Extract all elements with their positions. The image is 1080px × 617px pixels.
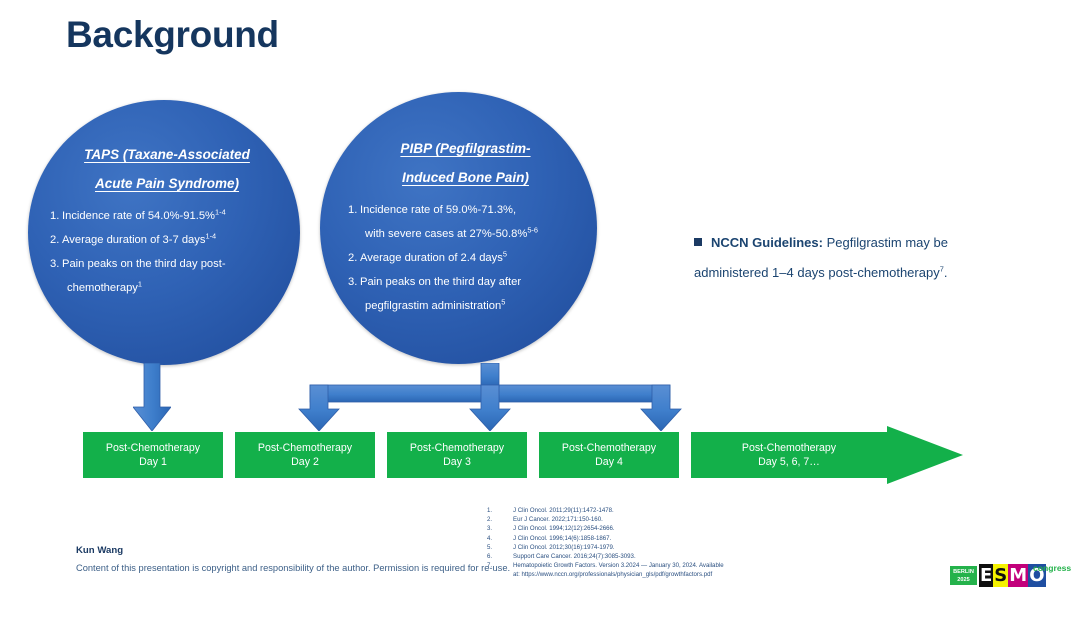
list-item-number: 2. xyxy=(348,246,357,270)
list-item-text: Average duration of 2.4 days xyxy=(360,252,503,264)
circle-taps-content: TAPS (Taxane-Associated Acute Pain Syndr… xyxy=(28,140,300,300)
circle-pibp-heading-line2: Induced Bone Pain) xyxy=(348,163,583,192)
citation-superscript: 5 xyxy=(503,249,507,258)
list-item-number: 3. xyxy=(50,252,59,276)
reference-item: 6. Support Care Cancer. 2016;24(7):3085-… xyxy=(487,552,724,561)
timeline-arrow-day-5-plus: Post-Chemotherapy Day 5, 6, 7… xyxy=(691,426,963,484)
reference-text: Hematopoietic Growth Factors. Version 3.… xyxy=(513,561,724,579)
timeline-box-line2: Day 4 xyxy=(595,455,623,469)
list-item: 2. Average duration of 3-7 days1-4 xyxy=(50,228,284,252)
list-item: 1. Incidence rate of 54.0%-91.5%1-4 xyxy=(50,204,284,228)
esmo-letter-m: M xyxy=(1008,564,1028,587)
reference-item: 5. J Clin Oncol. 2012;30(16):1974-1979. xyxy=(487,543,724,552)
circle-pibp-content: PIBP (Pegfilgrastim- Induced Bone Pain) … xyxy=(320,134,597,318)
list-item-number: 2. xyxy=(50,228,59,252)
esmo-letter-s: S xyxy=(993,564,1008,587)
reference-text-line1: Hematopoietic Growth Factors. Version 3.… xyxy=(513,562,724,569)
list-item-text: Pain peaks on the third day after xyxy=(360,276,521,288)
reference-text: J Clin Oncol. 1994;12(12):2654-2666. xyxy=(513,524,615,533)
timeline-box-line2: Day 2 xyxy=(291,455,319,469)
esmo-congress-label: congress xyxy=(1033,563,1071,573)
timeline-box-day-3: Post-Chemotherapy Day 3 xyxy=(387,432,527,478)
nccn-text-line1: Pegfilgrastim may be xyxy=(823,235,948,250)
reference-number: 5. xyxy=(487,543,513,552)
concept-circle-pibp: PIBP (Pegfilgrastim- Induced Bone Pain) … xyxy=(320,92,597,364)
reference-number: 6. xyxy=(487,552,513,561)
timeline-box-line2: Day 5, 6, 7… xyxy=(758,455,820,469)
timeline-box-day-2: Post-Chemotherapy Day 2 xyxy=(235,432,375,478)
list-item-text: Pain peaks on the third day post- xyxy=(62,258,226,270)
reference-number: 4. xyxy=(487,534,513,543)
circle-pibp-heading-line1: PIBP (Pegfilgrastim- xyxy=(348,134,583,163)
list-item-text-continued: pegfilgrastim administration5 xyxy=(360,294,583,318)
esmo-letter-e: E xyxy=(979,564,993,587)
citation-superscript: 5-6 xyxy=(527,225,538,234)
reference-number: 2. xyxy=(487,515,513,524)
nccn-guidelines-note: NCCN Guidelines: Pegfilgrastim may be ad… xyxy=(694,228,1024,288)
list-item-text-continued: with severe cases at 27%-50.8%5-6 xyxy=(360,222,583,246)
timeline-box-line2: Day 1 xyxy=(139,455,167,469)
esmo-berlin-year: 2025 xyxy=(950,576,977,584)
list-item-number: 1. xyxy=(50,204,59,228)
reference-item: 7. Hematopoietic Growth Factors. Version… xyxy=(487,561,724,579)
reference-item: 3. J Clin Oncol. 1994;12(12):2654-2666. xyxy=(487,524,724,533)
reference-item: 1. J Clin Oncol. 2011;29(11):1472-1478. xyxy=(487,506,724,515)
citation-superscript: 5 xyxy=(501,297,505,306)
nccn-text-line2: administered 1–4 days post-chemotherapy xyxy=(694,265,940,280)
timeline-box-line1: Post-Chemotherapy xyxy=(410,441,504,455)
circle-pibp-list: 1. Incidence rate of 59.0%-71.3%, with s… xyxy=(348,198,583,318)
list-item: 3. Pain peaks on the third day after peg… xyxy=(348,270,583,318)
timeline-box-line1: Post-Chemotherapy xyxy=(258,441,352,455)
list-item: 2. Average duration of 2.4 days5 xyxy=(348,246,583,270)
list-item-text: Incidence rate of 59.0%-71.3%, xyxy=(360,204,516,216)
circle-taps-list: 1. Incidence rate of 54.0%-91.5%1-4 2. A… xyxy=(50,204,284,300)
reference-text: Eur J Cancer. 2022;171:150-160. xyxy=(513,515,603,524)
timeline-box-line1: Post-Chemotherapy xyxy=(562,441,656,455)
arrow-branch-icon-pibp xyxy=(290,363,690,431)
timeline-box-day-4: Post-Chemotherapy Day 4 xyxy=(539,432,679,478)
list-item-text-continued: chemotherapy1 xyxy=(62,276,284,300)
copyright-notice: Content of this presentation is copyrigh… xyxy=(76,563,510,573)
list-item-text-continued-label: pegfilgrastim administration xyxy=(365,300,501,312)
reference-list: 1. J Clin Oncol. 2011;29(11):1472-1478. … xyxy=(487,506,724,580)
citation-superscript: 1 xyxy=(138,279,142,288)
list-item-number: 1. xyxy=(348,198,357,222)
timeline-box-line2: Day 3 xyxy=(443,455,471,469)
esmo-berlin-badge: BERLIN 2025 xyxy=(950,566,977,585)
reference-item: 2. Eur J Cancer. 2022;171:150-160. xyxy=(487,515,724,524)
nccn-label: NCCN Guidelines: xyxy=(711,235,823,250)
list-item-text-continued-label: with severe cases at 27%-50.8% xyxy=(365,228,527,240)
reference-text: J Clin Oncol. 1996;14(6):1858-1867. xyxy=(513,534,611,543)
timeline-arrow-label: Post-Chemotherapy Day 5, 6, 7… xyxy=(691,426,887,484)
reference-text: J Clin Oncol. 2011;29(11):1472-1478. xyxy=(513,506,614,515)
circle-taps-heading-line2: Acute Pain Syndrome) xyxy=(50,169,284,198)
author-name: Kun Wang xyxy=(76,545,123,556)
reference-number: 1. xyxy=(487,506,513,515)
nccn-period: . xyxy=(944,265,948,280)
reference-number: 7. xyxy=(487,561,513,579)
list-item-number: 3. xyxy=(348,270,357,294)
concept-circle-taps: TAPS (Taxane-Associated Acute Pain Syndr… xyxy=(28,100,300,365)
square-bullet-icon xyxy=(694,238,702,246)
reference-text: J Clin Oncol. 2012;30(16):1974-1979. xyxy=(513,543,615,552)
list-item: 3. Pain peaks on the third day post- che… xyxy=(50,252,284,300)
timeline-box-line1: Post-Chemotherapy xyxy=(742,441,836,455)
timeline-box-line1: Post-Chemotherapy xyxy=(106,441,200,455)
page-title: Background xyxy=(66,14,279,56)
arrow-down-icon-taps xyxy=(133,363,171,431)
citation-superscript: 1-4 xyxy=(215,207,226,216)
list-item-text: Average duration of 3-7 days xyxy=(62,234,205,246)
list-item-text: Incidence rate of 54.0%-91.5% xyxy=(62,210,215,222)
reference-text: Support Care Cancer. 2016;24(7):3085-309… xyxy=(513,552,636,561)
list-item: 1. Incidence rate of 59.0%-71.3%, with s… xyxy=(348,198,583,246)
reference-text-line2: at: https://www.nccn.org/professionals/p… xyxy=(513,570,724,579)
timeline-box-day-1: Post-Chemotherapy Day 1 xyxy=(83,432,223,478)
esmo-congress-logo: BERLIN 2025 ESMO congress xyxy=(950,561,1058,591)
esmo-berlin-city: BERLIN xyxy=(950,568,977,576)
reference-number: 3. xyxy=(487,524,513,533)
list-item-text-continued-label: chemotherapy xyxy=(67,282,138,294)
citation-superscript: 1-4 xyxy=(205,231,216,240)
circle-taps-heading-line1: TAPS (Taxane-Associated xyxy=(50,140,284,169)
reference-item: 4. J Clin Oncol. 1996;14(6):1858-1867. xyxy=(487,534,724,543)
